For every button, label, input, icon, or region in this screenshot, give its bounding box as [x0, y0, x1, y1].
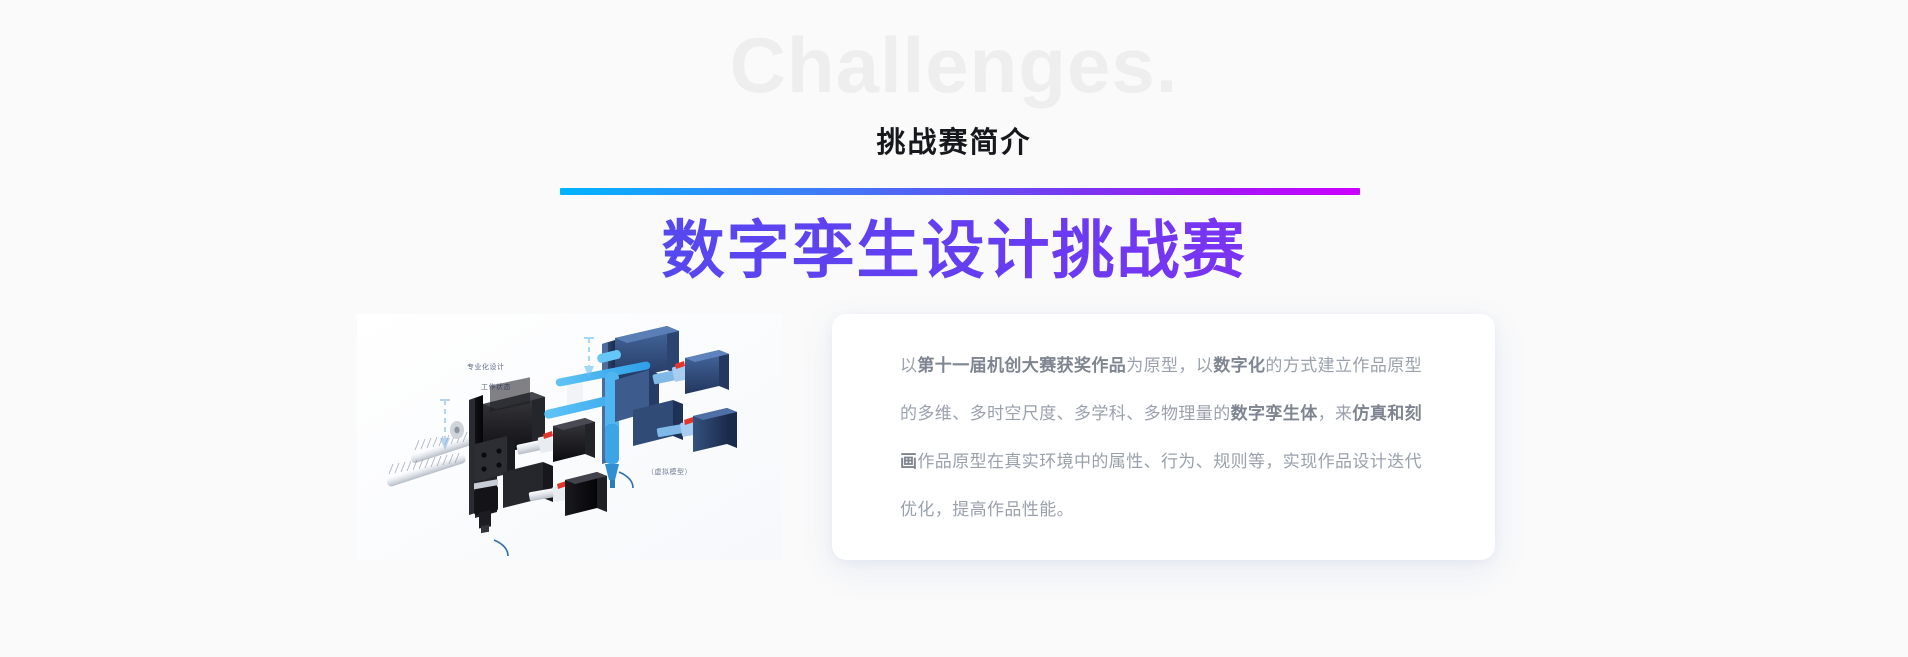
- page-content: 专业化设计 工作状态 （虚拟模型） 以第十一届机创大赛获奖作品为原型，以数字化的…: [0, 300, 1908, 657]
- digital-twin-illustration-graphic: [357, 314, 782, 560]
- description-line: 优化，提高作品性能。: [900, 486, 1440, 534]
- description-line: 以第十一届机创大赛获奖作品为原型，以数字化的方式建立作品原型: [900, 342, 1440, 390]
- description-line: 的多维、多时空尺度、多学科、多物理量的数字孪生体，来仿真和刻: [900, 390, 1440, 438]
- challenge-intro-page: Challenges. 挑战赛简介 数字孪生设计挑战赛: [0, 0, 1908, 657]
- page-title: 数字孪生设计挑战赛: [0, 214, 1908, 288]
- section-subtitle: 挑战赛简介: [0, 126, 1908, 161]
- challenge-description-body: 以第十一届机创大赛获奖作品为原型，以数字化的方式建立作品原型 的多维、多时空尺度…: [900, 342, 1440, 534]
- illustration-label-1: 工作状态: [481, 382, 511, 392]
- page-header: Challenges. 挑战赛简介 数字孪生设计挑战赛: [0, 0, 1908, 300]
- challenge-description-card: 以第十一届机创大赛获奖作品为原型，以数字化的方式建立作品原型 的多维、多时空尺度…: [832, 314, 1495, 560]
- gradient-divider: [560, 188, 1360, 195]
- illustration-label-0: 专业化设计: [467, 362, 505, 372]
- digital-twin-illustration: 专业化设计 工作状态 （虚拟模型）: [357, 314, 782, 560]
- description-line: 画作品原型在真实环境中的属性、行为、规则等，实现作品设计迭代: [900, 438, 1440, 486]
- section-watermark-text: Challenges.: [0, 26, 1908, 104]
- illustration-label-2: （虚拟模型）: [647, 467, 692, 477]
